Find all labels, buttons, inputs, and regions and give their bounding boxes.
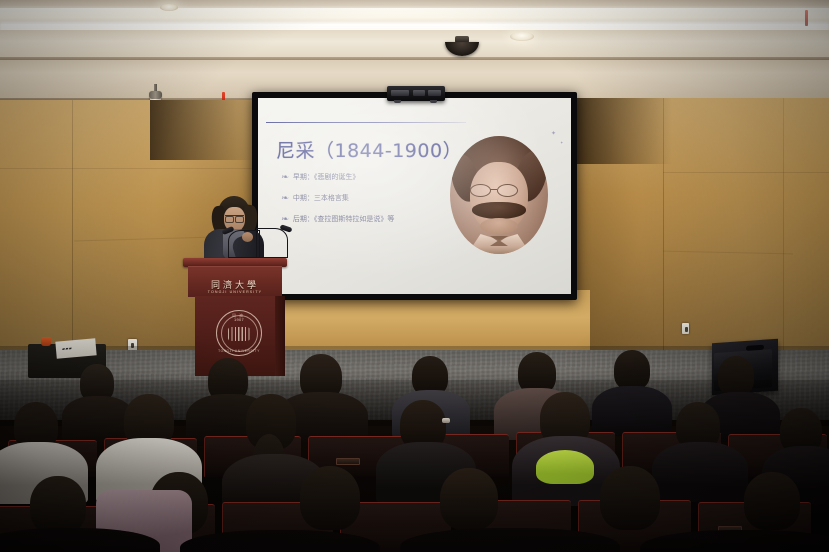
audience-head bbox=[744, 472, 800, 530]
bullet-text: 早期：《悲剧的诞生》 bbox=[293, 172, 360, 182]
seat-number-plate bbox=[336, 458, 360, 465]
slide-bullet-list: ❧ 早期：《悲剧的诞生》 ❧ 中期：三本格言集 ❧ 后期：《查拉图斯特拉如是说》… bbox=[282, 172, 462, 235]
hair-clip bbox=[442, 418, 450, 423]
university-seal: 同濟 1907 TONGJI UNIVERSITY bbox=[216, 310, 262, 356]
podium-side-panel bbox=[275, 296, 285, 376]
lecturer-glasses-icon bbox=[225, 215, 244, 221]
list-item: ❧ 早期：《悲剧的诞生》 bbox=[282, 172, 462, 182]
green-hoodie bbox=[536, 450, 594, 484]
portrait-glasses-icon bbox=[470, 184, 530, 195]
recessed-downlight-icon bbox=[160, 4, 178, 11]
bullet-text: 中期：三本格言集 bbox=[293, 193, 349, 203]
audience-shoulders bbox=[592, 386, 672, 436]
orange-equipment-item bbox=[41, 337, 51, 346]
bullet-marker-icon: ❧ bbox=[281, 215, 289, 223]
slide-title: 尼采（1844-1900） bbox=[276, 136, 462, 163]
bullet-text: 后期：《查拉图斯特拉如是说》等 bbox=[293, 214, 395, 224]
slide-sparkle-icon: ✦ bbox=[551, 130, 556, 137]
wall-corner-shadow bbox=[150, 100, 255, 160]
podium-front-upper: 同濟大學 TONGJI UNIVERSITY bbox=[188, 266, 282, 297]
bullet-marker-icon: ❧ bbox=[281, 194, 289, 202]
audience-head bbox=[614, 350, 650, 390]
audience-head bbox=[300, 466, 360, 530]
bullet-marker-icon: ❧ bbox=[281, 173, 289, 181]
ceiling-projector bbox=[387, 86, 445, 101]
slide-divider-line bbox=[266, 122, 466, 123]
audience-head bbox=[718, 356, 754, 396]
av-document-text: ▰▰▰ bbox=[62, 345, 73, 351]
audience-head bbox=[30, 476, 86, 534]
audience-head bbox=[600, 466, 660, 530]
audience-shoulders bbox=[652, 442, 748, 502]
red-hanging-ribbon bbox=[805, 10, 808, 26]
list-item: ❧ 后期：《查拉图斯特拉如是说》等 bbox=[282, 214, 462, 224]
projector-mount-foot bbox=[394, 100, 401, 103]
foreground-silhouette bbox=[400, 528, 620, 552]
projection-screen-surface: 尼采（1844-1900） ❧ 早期：《悲剧的诞生》 ❧ 中期：三本格言集 ❧ … bbox=[258, 98, 571, 294]
slide-sparkle-icon: ✦ bbox=[560, 140, 563, 145]
projector-mount-foot bbox=[430, 100, 437, 103]
lecture-hall-photo: 尼采（1844-1900） ❧ 早期：《悲剧的诞生》 ❧ 中期：三本格言集 ❧ … bbox=[0, 0, 829, 552]
list-item: ❧ 中期：三本格言集 bbox=[282, 193, 462, 203]
wall-corner-shadow bbox=[576, 98, 672, 164]
av-document-sheet: ▰▰▰ bbox=[55, 338, 96, 358]
gooseneck-microphone bbox=[256, 228, 288, 258]
portrait-chin bbox=[480, 218, 518, 234]
seal-emblem-core bbox=[228, 327, 250, 341]
recessed-downlight-icon bbox=[510, 32, 534, 41]
podium-university-name-en: TONGJI UNIVERSITY bbox=[188, 290, 282, 294]
audience-head bbox=[440, 468, 498, 530]
portrait-moustache bbox=[472, 202, 526, 219]
wall-power-outlet bbox=[682, 323, 689, 334]
audience-area bbox=[0, 380, 829, 552]
seal-name-en: TONGJI UNIVERSITY bbox=[217, 349, 261, 353]
nietzsche-portrait bbox=[450, 136, 548, 254]
seal-year: 1907 bbox=[217, 317, 261, 322]
